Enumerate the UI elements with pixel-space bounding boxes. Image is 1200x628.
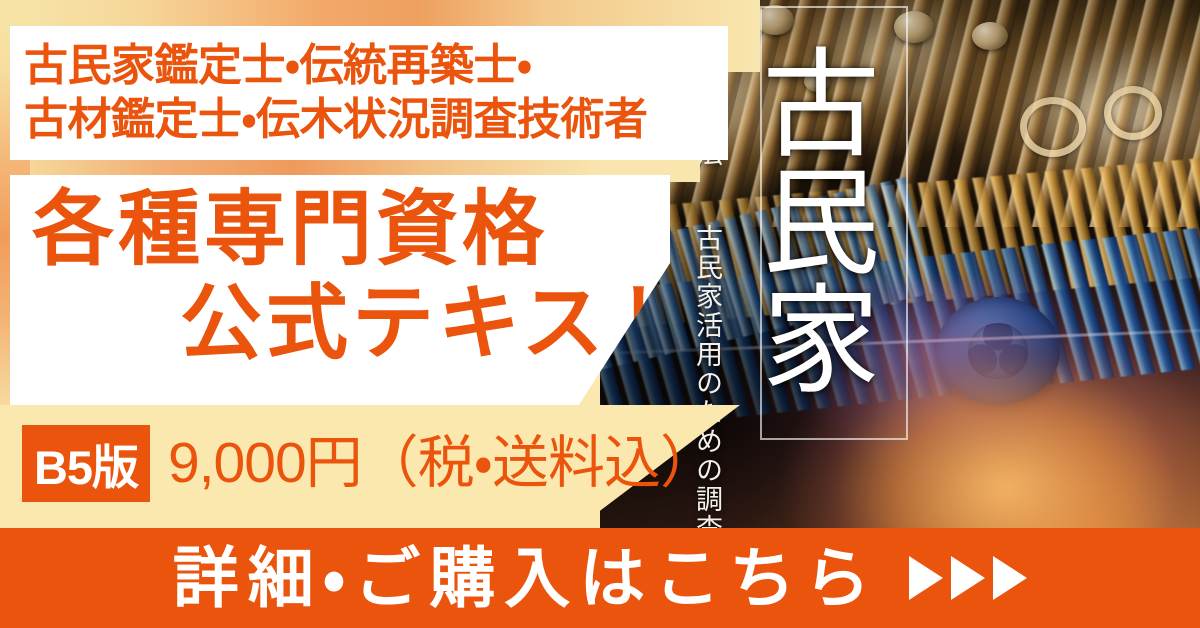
size-badge: B5版 [22, 425, 150, 502]
headline-line-1: 各種専門資格 [32, 189, 548, 271]
cta-bar[interactable]: 詳細・ご購入はこちら [0, 528, 1200, 628]
triangle-right-icon [909, 556, 943, 600]
qualifications-panel: 古民家鑑定士・伝統再築士・ 古材鑑定士・伝木状況調査技術者 [10, 26, 728, 160]
promo-banner: 古民家 伝統構法 古民家活用のための調査と再生の 古民家鑑定士・伝統再築士・ 古… [0, 0, 1200, 628]
cover-title: 古民家 [762, 10, 906, 440]
cta-label: 詳細・ご購入はこちら [173, 545, 879, 611]
price-amount: 9,000円（税・送料込） [168, 428, 716, 498]
triangle-right-icon [951, 556, 985, 600]
triangle-right-icon [993, 556, 1027, 600]
headline-panel: 各種専門資格 公式テキスト [10, 175, 670, 407]
qualifications-line-1: 古民家鑑定士・伝統再築士・ [10, 39, 728, 93]
qualifications-line-2: 古材鑑定士・伝木状況調査技術者 [10, 93, 728, 147]
cta-arrows [909, 556, 1027, 600]
